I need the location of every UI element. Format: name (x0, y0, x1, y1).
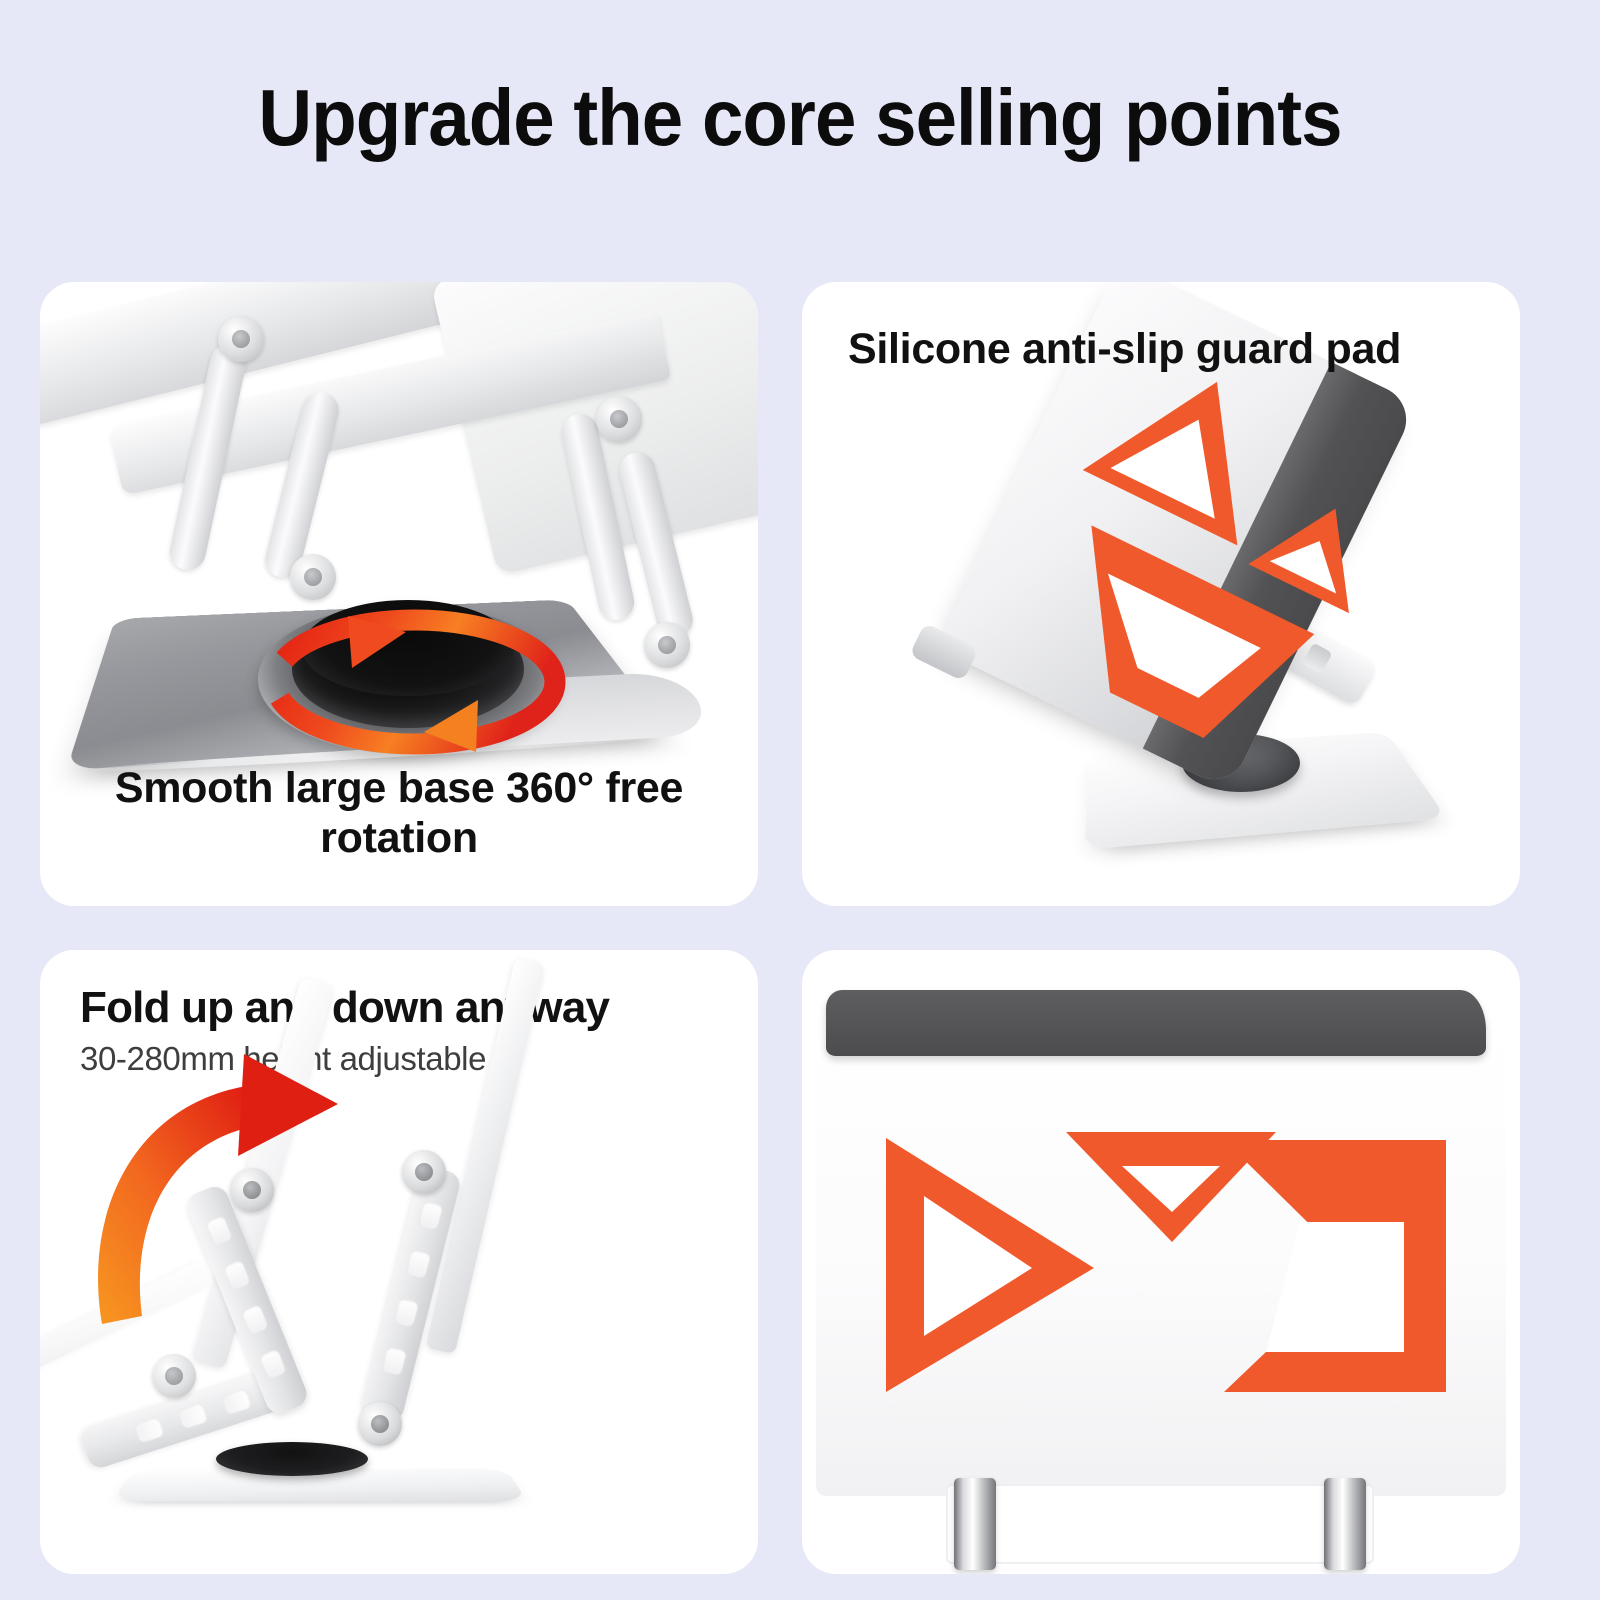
hinge-joint-lower (152, 1354, 196, 1398)
hinge-joint-base (358, 1402, 402, 1446)
silicone-pad-icon (826, 990, 1486, 1056)
hinge-icon-right (1324, 1478, 1366, 1570)
folding-stand-illustration (40, 950, 758, 1574)
feature-card-heat-dissipation[interactable]: Hollow heat dissipation design (802, 950, 1520, 1574)
card-caption-rotation: Smooth large base 360° free rotation (40, 763, 758, 864)
hinge-joint-right (402, 1150, 446, 1194)
page-title: Upgrade the core selling points (56, 72, 1544, 164)
infographic-page: Upgrade the core selling points (0, 0, 1600, 1600)
hollow-cutout-icon-right (1054, 1130, 1454, 1402)
card-caption-silicone-pad: Silicone anti-slip guard pad (848, 324, 1401, 375)
rotation-arrow-icon (240, 582, 590, 782)
hinge-joint-4 (644, 622, 690, 668)
silicone-pad-illustration (802, 282, 1520, 906)
hinge-joint-3 (596, 396, 642, 442)
rotation-disc (216, 1442, 368, 1476)
stand-lower-slot (946, 1484, 1374, 1564)
feature-card-rotation[interactable]: Smooth large base 360° free rotation (40, 282, 758, 906)
feature-card-grid: Smooth large base 360° free rotation (40, 282, 1560, 1574)
rotating-base-illustration (40, 282, 758, 782)
hollow-design-illustration (802, 950, 1520, 1574)
feature-card-silicone-pad[interactable]: Silicone anti-slip guard pad (802, 282, 1520, 906)
hinge-joint-1 (218, 316, 264, 362)
hinge-icon-left (954, 1478, 996, 1570)
feature-card-fold[interactable]: Fold up and down anyway 30-280mm height … (40, 950, 758, 1574)
stand-panel-back (425, 958, 544, 1354)
curved-arrow-icon (76, 1038, 406, 1338)
